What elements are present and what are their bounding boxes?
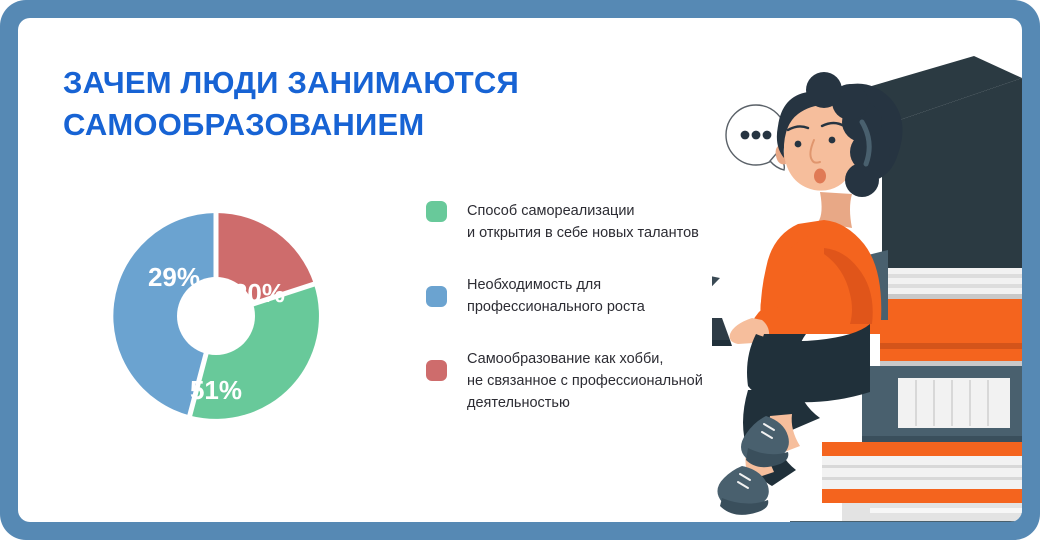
book-stack-upper <box>880 268 1022 366</box>
slice-label-red: 20% <box>233 278 285 308</box>
book-stack-lower <box>790 442 1022 522</box>
mouth <box>814 169 826 184</box>
donut-chart: 20% 51% 29% <box>104 204 328 428</box>
slice-label-blue: 29% <box>148 262 200 292</box>
legend-label-hobby: Самообразование как хобби, не связанное … <box>467 348 703 414</box>
slide-frame: ЗАЧЕМ ЛЮДИ ЗАНИМАЮТСЯ САМООБРАЗОВАНИЕМ <box>0 0 1040 540</box>
legend-label-self-realization: Способ самореализации и открытия в себе … <box>467 200 699 244</box>
eye-left <box>795 141 802 148</box>
legend-swatch-red <box>426 360 447 381</box>
hair-curl-3 <box>845 163 879 197</box>
page-title: ЗАЧЕМ ЛЮДИ ЗАНИМАЮТСЯ САМООБРАЗОВАНИЕМ <box>63 62 683 146</box>
legend-swatch-green <box>426 201 447 222</box>
slide-card: ЗАЧЕМ ЛЮДИ ЗАНИМАЮТСЯ САМООБРАЗОВАНИЕМ <box>18 18 1022 522</box>
book-stack-seat <box>862 366 1022 442</box>
legend-label-professional-growth: Необходимость для профессионального рост… <box>467 274 645 318</box>
slice-label-green: 51% <box>190 375 242 405</box>
legend-swatch-blue <box>426 286 447 307</box>
laptop-icon <box>712 276 732 346</box>
hair-curl-5 <box>806 72 842 108</box>
eye-right <box>829 137 836 144</box>
illustration-woman-studying <box>712 18 1022 522</box>
